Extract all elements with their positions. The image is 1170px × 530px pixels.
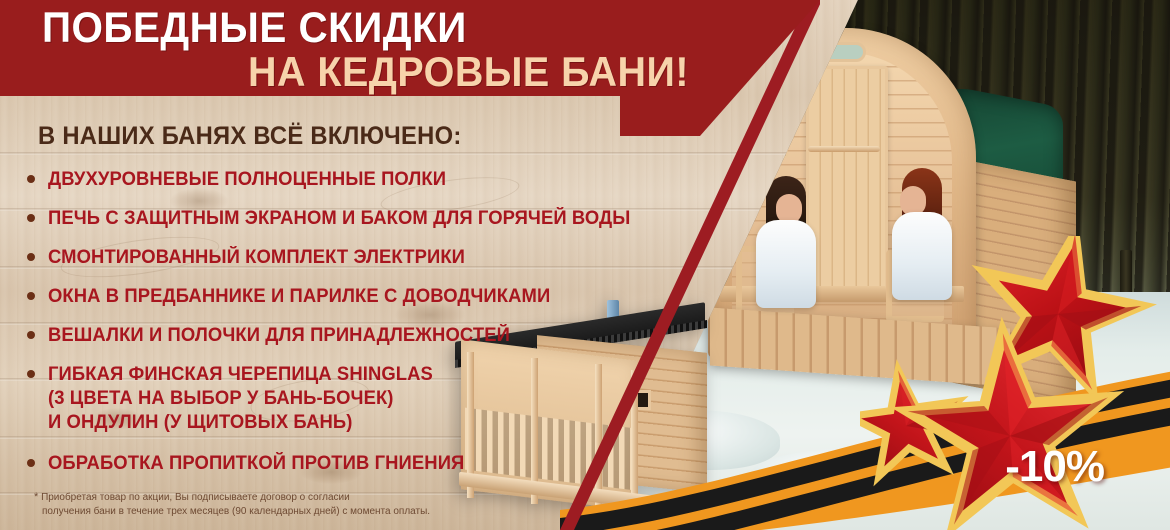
headline-line-2: НА КЕДРОВЫЕ БАНИ! [248, 48, 689, 96]
disclaimer-line-1: Приобретая товар по акции, Вы подписывае… [41, 492, 350, 503]
list-item: ПЕЧЬ С ЗАЩИТНЫМ ЭКРАНОМ И БАКОМ ДЛЯ ГОРЯ… [18, 207, 578, 231]
features-list: ДВУХУРОВНЕВЫЕ ПОЛНОЦЕННЫЕ ПОЛКИ ПЕЧЬ С З… [18, 168, 578, 490]
discount-badge: -10% [1005, 442, 1104, 492]
list-item-label: ГИБКАЯ ФИНСКАЯ ЧЕРЕПИЦА SHINGLAS [48, 363, 562, 387]
list-item: ДВУХУРОВНЕВЫЕ ПОЛНОЦЕННЫЕ ПОЛКИ [18, 168, 578, 192]
list-item-label-line3: И ОНДУЛИН (У ЩИТОВЫХ БАНЬ) [48, 411, 562, 435]
list-item-label: СМОНТИРОВАННЫЙ КОМПЛЕКТ ЭЛЕКТРИКИ [48, 246, 562, 270]
list-item-label: ПЕЧЬ С ЗАЩИТНЫМ ЭКРАНОМ И БАКОМ ДЛЯ ГОРЯ… [48, 207, 562, 231]
list-item-label: ОБРАБОТКА ПРОПИТКОЙ ПРОТИВ ГНИЕНИЯ [48, 452, 562, 476]
list-item: ОКНА В ПРЕДБАННИКЕ И ПАРИЛКЕ С ДОВОДЧИКА… [18, 285, 578, 309]
list-item: ВЕШАЛКИ И ПОЛОЧКИ ДЛЯ ПРИНАДЛЕЖНОСТЕЙ [18, 324, 578, 348]
list-item: ОБРАБОТКА ПРОПИТКОЙ ПРОТИВ ГНИЕНИЯ [18, 452, 578, 476]
subheading: В НАШИХ БАНЯХ ВСЁ ВКЛЮЧЕНО: [38, 122, 462, 151]
list-item-label: ОКНА В ПРЕДБАННИКЕ И ПАРИЛКЕ С ДОВОДЧИКА… [48, 285, 562, 309]
bullet-dot [27, 253, 35, 261]
disclaimer-line-2: получения бани в течение трех месяцев (9… [42, 506, 430, 517]
bullet-dot [27, 214, 35, 222]
disclaimer-marker: * [34, 491, 38, 503]
bullet-dot [27, 370, 35, 378]
headline-line-1: ПОБЕДНЫЕ СКИДКИ [42, 4, 467, 53]
promo-banner: -10% ПОБЕДНЫЕ СКИДКИ НА КЕДРОВЫЕ БАНИ! В… [0, 0, 1170, 530]
list-item: ГИБКАЯ ФИНСКАЯ ЧЕРЕПИЦА SHINGLAS (3 ЦВЕТ… [18, 363, 578, 435]
disclaimer: * Приобретая товар по акции, Вы подписыв… [34, 490, 454, 518]
list-item: СМОНТИРОВАННЫЙ КОМПЛЕКТ ЭЛЕКТРИКИ [18, 246, 578, 270]
bullet-dot [27, 292, 35, 300]
bullet-dot [27, 459, 35, 467]
bullet-dot [27, 331, 35, 339]
list-item-label-line2: (3 ЦВЕТА НА ВЫБОР У БАНЬ-БОЧЕК) [48, 387, 562, 411]
list-item-label: ДВУХУРОВНЕВЫЕ ПОЛНОЦЕННЫЕ ПОЛКИ [48, 168, 562, 192]
bullet-dot [27, 175, 35, 183]
list-item-label: ВЕШАЛКИ И ПОЛОЧКИ ДЛЯ ПРИНАДЛЕЖНОСТЕЙ [48, 324, 562, 348]
